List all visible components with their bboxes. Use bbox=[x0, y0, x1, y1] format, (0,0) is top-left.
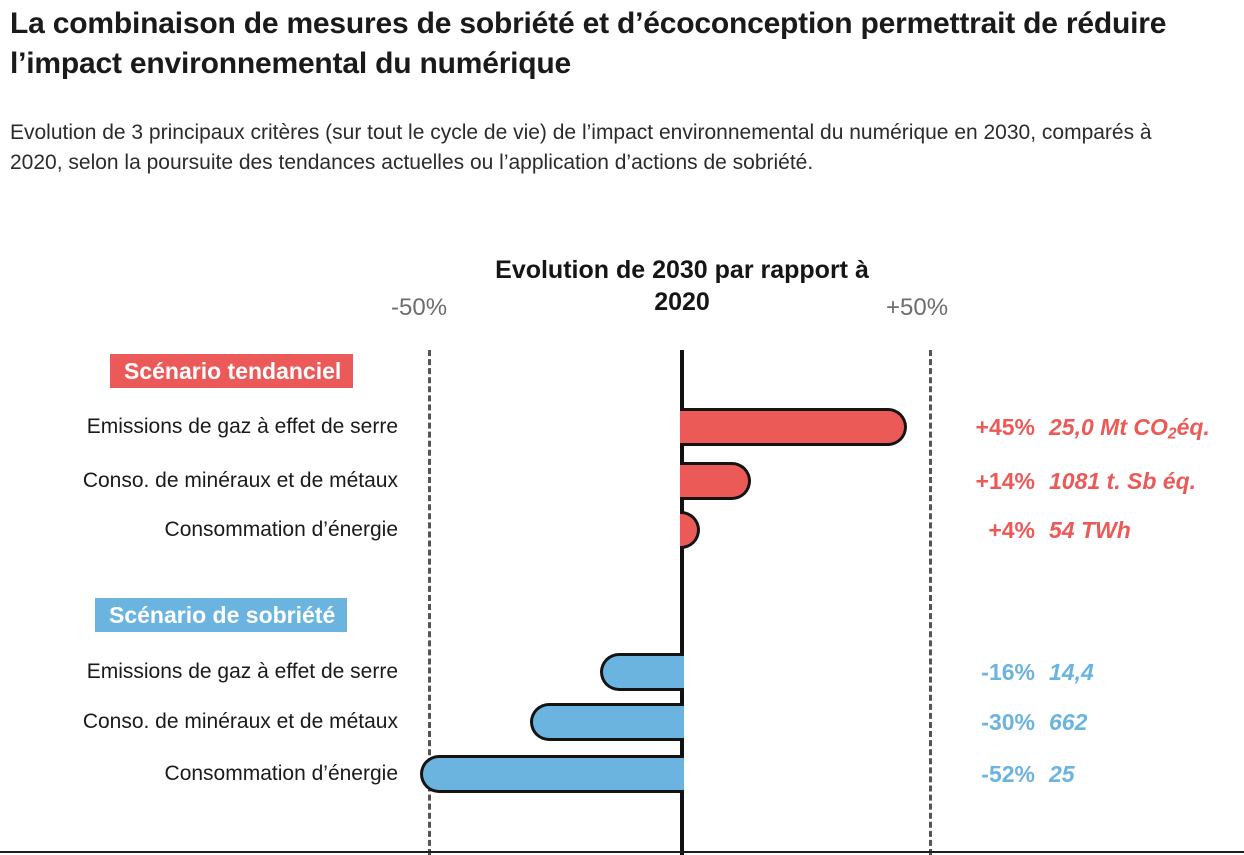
chart-row: Conso. de minéraux et de métaux -30% 662 bbox=[0, 701, 1244, 743]
chart-baseline bbox=[0, 851, 1244, 853]
chart-row: Emissions de gaz à effet de serre -16% 1… bbox=[0, 651, 1244, 693]
bar-positive bbox=[680, 462, 751, 500]
infographic-root: La combinaison de mesures de sobriété et… bbox=[0, 0, 1244, 855]
row-percent: +4% bbox=[930, 509, 1035, 551]
bar-negative bbox=[530, 703, 684, 741]
axis-heading: Evolution de 2030 par rapport à 2020 bbox=[492, 254, 872, 318]
chart-row: Conso. de minéraux et de métaux +14% 108… bbox=[0, 460, 1244, 502]
row-unit: 25 bbox=[1049, 753, 1075, 795]
row-unit: 662 bbox=[1049, 701, 1087, 743]
bar-positive bbox=[680, 408, 907, 446]
row-unit: 1081 t. Sb éq. bbox=[1049, 460, 1196, 502]
x-tick-label-minus-50: -50% bbox=[391, 294, 447, 322]
scenario-badge-tendanciel: Scénario tendanciel bbox=[110, 354, 353, 388]
row-percent: -16% bbox=[930, 651, 1035, 693]
page-title: La combinaison de mesures de sobriété et… bbox=[10, 4, 1210, 83]
x-tick-label-plus-50: +50% bbox=[886, 294, 948, 322]
row-percent: +14% bbox=[930, 460, 1035, 502]
row-percent: +45% bbox=[930, 406, 1035, 448]
scenario-badge-sobriete: Scénario de sobriété bbox=[95, 598, 347, 632]
bar-negative bbox=[420, 755, 684, 793]
chart-area: Evolution de 2030 par rapport à 2020 -50… bbox=[0, 246, 1244, 855]
chart-row: Consommation d’énergie +4% 54 TWh bbox=[0, 509, 1244, 551]
row-unit: 25,0 Mt CO2éq. bbox=[1049, 406, 1210, 455]
bar-negative bbox=[600, 653, 684, 691]
row-percent: -30% bbox=[930, 701, 1035, 743]
row-unit: 54 TWh bbox=[1049, 509, 1131, 551]
row-unit: 14,4 bbox=[1049, 651, 1094, 693]
bar-positive bbox=[680, 511, 700, 549]
page-subtitle: Evolution de 3 principaux critères (sur … bbox=[10, 118, 1200, 179]
row-percent: -52% bbox=[930, 753, 1035, 795]
chart-row: Consommation d’énergie -52% 25 bbox=[0, 753, 1244, 795]
chart-row: Emissions de gaz à effet de serre +45% 2… bbox=[0, 406, 1244, 448]
